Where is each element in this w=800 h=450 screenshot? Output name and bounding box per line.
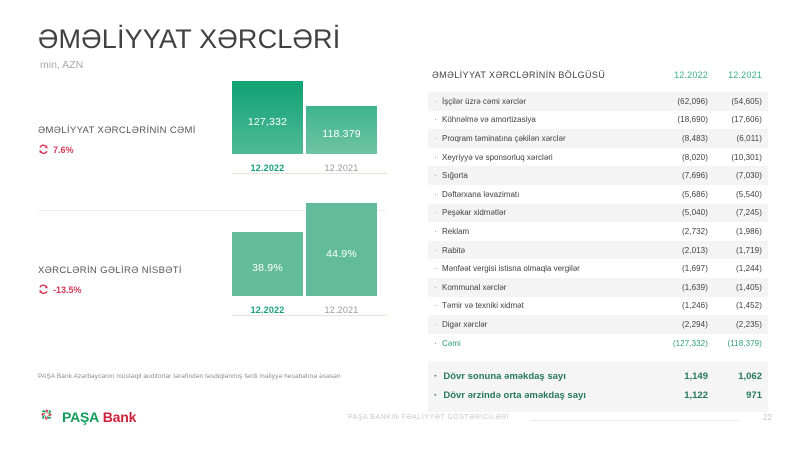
chart2-bar-group-1: 44.9% 12.2021 [306,203,377,315]
chart2-bar-1[interactable]: 44.9% [306,203,377,296]
chart1-delta-value: 7.6% [53,145,74,155]
table-row-value-2022: (18,690) [654,115,708,124]
summary-row-value-2021: 971 [708,390,762,401]
table-row-value-2022: (1,246) [654,301,708,310]
table-row-value-2022: (5,686) [654,190,708,199]
table-row: ·Təmir və texniki xidmət(1,246)(1,452) [428,297,768,316]
bullet-icon: · [434,301,437,310]
logo-text-bank: Bank [103,409,136,425]
chart2-axis [232,315,387,316]
table-row-value-2021: (2,235) [708,320,762,329]
summary-row: ·Dövr sonuna əməkdaş sayı1,1491,062 [434,367,762,386]
table-row-value-2021: (6,011) [708,134,762,143]
table-body: ·İşçilər üzrə cəmi xərclər(62,096)(54,60… [428,92,768,352]
footnote: PAŞA Bank Azərbaycanın müstəqil auditorl… [38,373,341,380]
table-row-label: ·Kommunal xərclər [434,283,654,292]
bullet-icon: · [434,320,437,329]
chart2-tick-0: 12.2022 [251,305,285,315]
chart1-bar-0[interactable]: 127,332 [232,81,303,154]
table-row-label: ·Rabitə [434,246,654,255]
logo-text-pasa: PAŞA [62,409,99,425]
pasa-bank-logo[interactable]: PAŞA Bank [38,406,136,428]
table-row-name: Xeyriyyə və sponsorluq xərcləri [442,153,553,162]
table-row-value-2022: (2,732) [654,227,708,236]
chart2-tick-1: 12.2021 [325,305,359,315]
bullet-icon: · [434,264,437,273]
refresh-change-icon [38,284,49,295]
table-row-value-2021: (17,606) [708,115,762,124]
table-row-value-2021: (1,452) [708,301,762,310]
page-subtitle: min, AZN [40,59,83,71]
bullet-icon: · [434,283,437,292]
table-row-name: Təmir və texniki xidmət [442,301,524,310]
table-row-name: Proqram təminatına çəkilən xərclər [442,134,566,143]
table-row-value-2021: (5,540) [708,190,762,199]
table-row: ·Proqram təminatına çəkilən xərclər(8,48… [428,129,768,148]
table-row-value-2021: (7,030) [708,171,762,180]
bullet-icon: · [434,153,437,162]
table-col-header-2021: 12.2021 [708,70,762,80]
table-row-label: ·Proqram təminatına çəkilən xərclər [434,134,654,143]
chart2-bars: 38.9% 12.2022 44.9% 12.2021 [232,222,377,315]
summary-row-label: ·Dövr ərzində orta əməkdaş sayı [434,390,654,401]
footer-caption: PAŞA BANKIN FƏALİYYƏT GÖSTƏRİCİLƏRİ [348,414,509,421]
chart2-bar-group-0: 38.9% 12.2022 [232,232,303,315]
table-row-name: Peşəkar xidmətlər [442,208,506,217]
summary-row-value-2021: 1,062 [708,371,762,382]
table-row-label: ·Digər xərclər [434,320,654,329]
chart2-bar-0[interactable]: 38.9% [232,232,303,296]
table-row-label: ·Cəmi [434,339,654,348]
table-row-value-2021: (7,245) [708,208,762,217]
table-row-value-2021: (10,301) [708,153,762,162]
table-row-value-2021: (1,986) [708,227,762,236]
table-row: ·Cəmi(127,332)(118,379) [428,334,768,353]
bullet-icon: · [434,134,437,143]
table-col-header-2022: 12.2022 [654,70,708,80]
table-row-value-2021: (1,719) [708,246,762,255]
pinwheel-logo-icon [38,406,55,428]
headcount-summary-box: ·Dövr sonuna əməkdaş sayı1,1491,062·Dövr… [428,361,768,412]
page-title: ƏMƏLİYYAT XƏRCLƏRİ [38,24,340,55]
bullet-icon: · [434,171,437,180]
table-row: ·Digər xərclər(2,294)(2,235) [428,315,768,334]
chart2-delta: -13.5% [38,284,82,295]
table-header-row: ƏMƏLİYYAT XƏRCLƏRİNİN BÖLGÜSÜ 12.2022 12… [428,70,768,80]
chart1-bar-1[interactable]: 118.379 [306,106,377,154]
table-heading: ƏMƏLİYYAT XƏRCLƏRİNİN BÖLGÜSÜ [432,70,654,80]
table-row-value-2022: (2,013) [654,246,708,255]
table-row: ·Köhnəlmə və amortizasiya(18,690)(17,606… [428,111,768,130]
bullet-icon: · [434,227,437,236]
table-row: ·Xeyriyyə və sponsorluq xərcləri(8,020)(… [428,148,768,167]
table-row-name: İşçilər üzrə cəmi xərclər [442,97,526,106]
bullet-icon: · [434,190,437,199]
refresh-change-icon [38,144,49,155]
expenses-breakdown-table: ƏMƏLİYYAT XƏRCLƏRİNİN BÖLGÜSÜ 12.2022 12… [428,70,768,412]
table-row-label: ·Köhnəlmə və amortizasiya [434,115,654,124]
table-row: ·Dəftərxana ləvazimatı(5,686)(5,540) [428,185,768,204]
summary-row-value-2022: 1,149 [654,371,708,382]
table-row-name: Mənfəət vergisi istisna olmaqla vergilər [442,264,580,273]
table-row: ·Rabitə(2,013)(1,719) [428,241,768,260]
table-row-value-2021: (118,379) [708,339,762,348]
bullet-icon: · [434,115,437,124]
chart1-bar-1-value: 118.379 [322,128,361,140]
table-row: ·Reklam(2,732)(1,986) [428,222,768,241]
table-row-value-2022: (7,696) [654,171,708,180]
chart1-axis [232,173,387,174]
table-row: ·Peşəkar xidmətlər(5,040)(7,245) [428,204,768,223]
bullet-icon: · [434,246,437,255]
table-row-value-2022: (127,332) [654,339,708,348]
table-row-name: Kommunal xərclər [442,283,506,292]
chart1-bar-group-1: 118.379 12.2021 [306,106,377,173]
bullet-icon: · [434,372,437,382]
table-row: ·Kommunal xərclər(1,639)(1,405) [428,278,768,297]
table-row-label: ·Təmir və texniki xidmət [434,301,654,310]
summary-row-value-2022: 1,122 [654,390,708,401]
bullet-icon: · [434,339,437,348]
table-row-value-2022: (1,697) [654,264,708,273]
chart1-bar-group-0: 127,332 12.2022 [232,81,303,173]
table-row: ·İşçilər üzrə cəmi xərclər(62,096)(54,60… [428,92,768,111]
slide: ƏMƏLİYYAT XƏRCLƏRİ min, AZN ƏMƏLİYYAT XƏ… [0,0,800,450]
table-row: ·Mənfəət vergisi istisna olmaqla vergilə… [428,259,768,278]
summary-row-name: Dövr ərzində orta əməkdaş sayı [443,390,586,401]
page-number: 22 [763,413,772,422]
bullet-icon: · [434,391,437,401]
chart2-bar-1-value: 44.9% [326,248,357,260]
chart1-tick-1: 12.2021 [325,163,359,173]
table-row: ·Sığorta(7,696)(7,030) [428,166,768,185]
bullet-icon: · [434,208,437,217]
bullet-icon: · [434,97,437,106]
table-row-label: ·Sığorta [434,171,654,180]
summary-row-label: ·Dövr sonuna əməkdaş sayı [434,371,654,382]
table-row-value-2022: (1,639) [654,283,708,292]
table-row-value-2022: (8,020) [654,153,708,162]
chart1-tick-0: 12.2022 [251,163,285,173]
table-row-value-2022: (5,040) [654,208,708,217]
chart2-label: XƏRCLƏRİN GƏLİRƏ NİSBƏTİ [38,265,182,276]
chart2-bar-0-value: 38.9% [252,262,283,274]
summary-row-name: Dövr sonuna əməkdaş sayı [443,371,566,382]
chart1-label: ƏMƏLİYYAT XƏRCLƏRİNİN CƏMİ [38,125,196,136]
table-row-label: ·Dəftərxana ləvazimatı [434,190,654,199]
table-row-label: ·Reklam [434,227,654,236]
table-row-name: Digər xərclər [442,320,487,329]
table-row-value-2021: (1,244) [708,264,762,273]
chart2-delta-value: -13.5% [53,285,82,295]
table-row-label: ·Peşəkar xidmətlər [434,208,654,217]
table-row-name: Cəmi [442,339,461,348]
table-row-value-2022: (8,483) [654,134,708,143]
table-row-name: Rabitə [442,246,465,255]
chart1-bar-0-value: 127,332 [248,116,287,128]
chart1-bars: 127,332 12.2022 118.379 12.2021 [232,100,377,173]
footer-rule [530,420,740,421]
table-row-label: ·İşçilər üzrə cəmi xərclər [434,97,654,106]
table-row-name: Sığorta [442,171,468,180]
table-row-label: ·Xeyriyyə və sponsorluq xərcləri [434,153,654,162]
table-row-value-2021: (54,605) [708,97,762,106]
summary-row: ·Dövr ərzində orta əməkdaş sayı1,122971 [434,386,762,405]
table-row-name: Köhnəlmə və amortizasiya [442,115,536,124]
table-row-value-2022: (62,096) [654,97,708,106]
table-row-value-2022: (2,294) [654,320,708,329]
table-row-name: Dəftərxana ləvazimatı [442,190,519,199]
table-row-name: Reklam [442,227,469,236]
chart1-delta: 7.6% [38,144,74,155]
table-row-value-2021: (1,405) [708,283,762,292]
table-row-label: ·Mənfəət vergisi istisna olmaqla vergilə… [434,264,654,273]
